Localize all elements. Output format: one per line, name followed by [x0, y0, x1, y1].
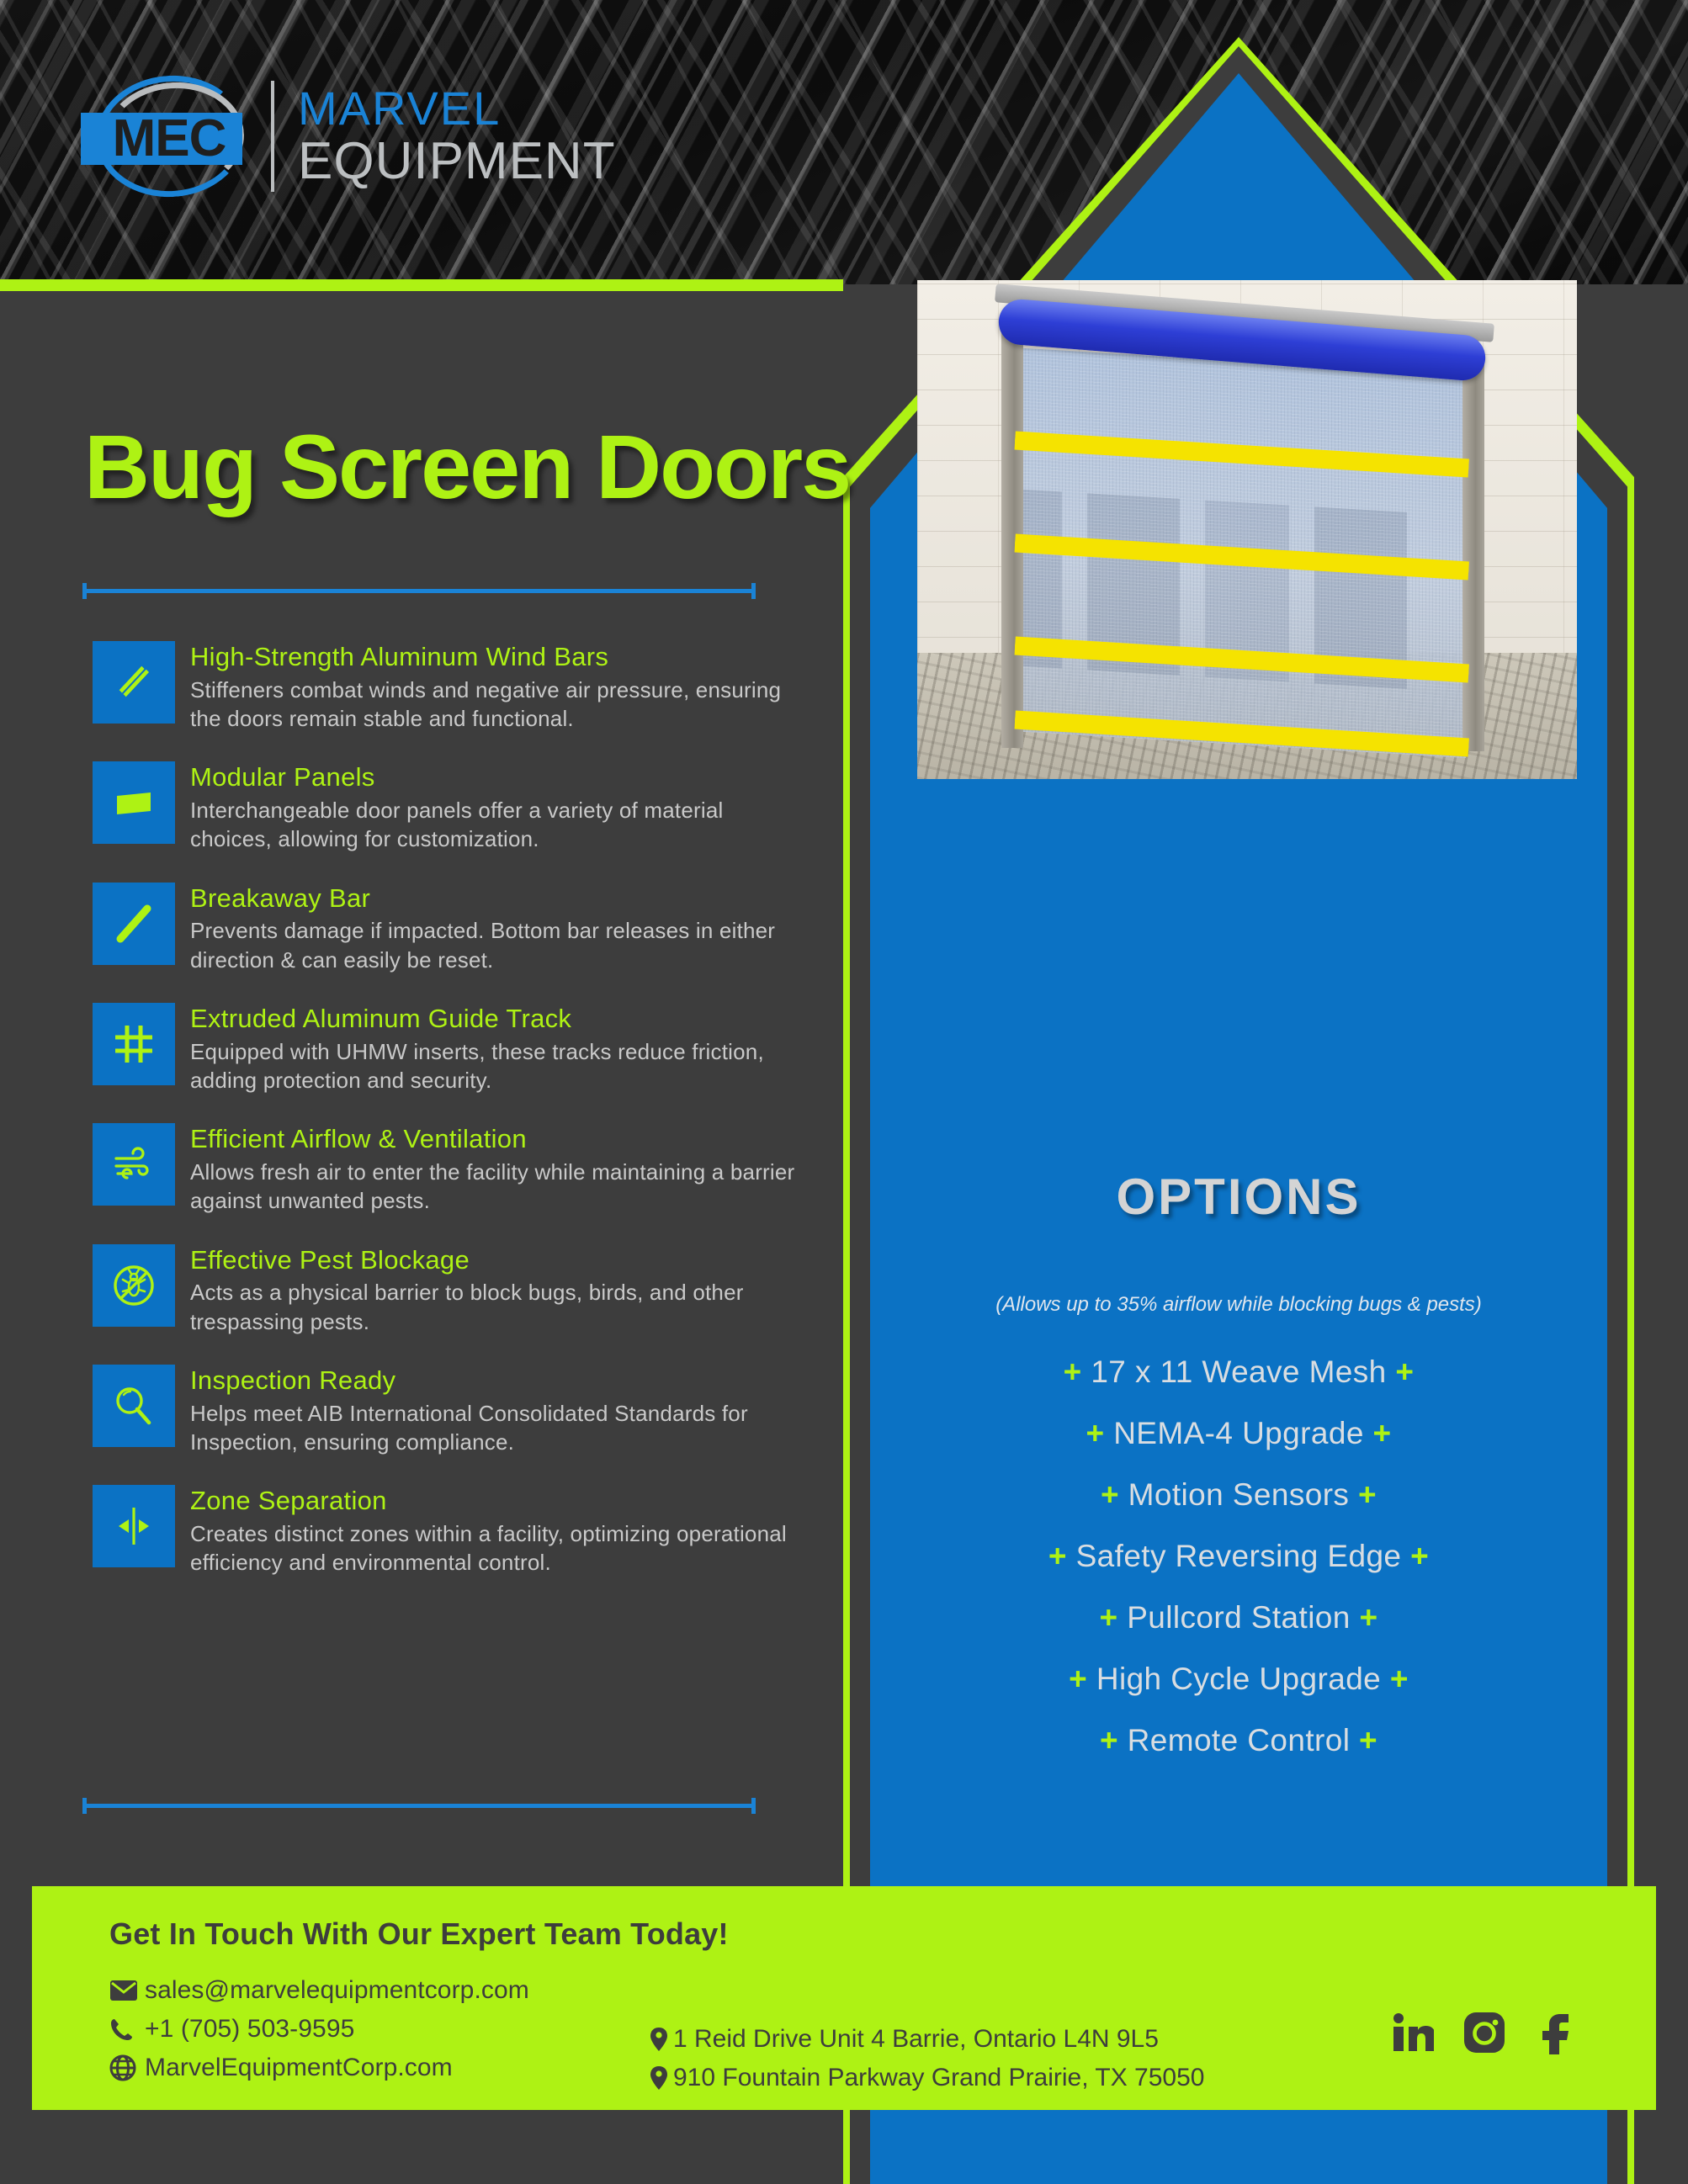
feature-body: Breakaway Bar Prevents damage if impacte… [190, 883, 808, 974]
options-note: (Allows up to 35% airflow while blocking… [843, 1293, 1634, 1317]
email-icon [109, 1980, 145, 2001]
feature-body: Zone Separation Creates distinct zones w… [190, 1485, 808, 1577]
logo-divider [271, 81, 274, 192]
divider-bottom [82, 1804, 756, 1808]
feature-desc: Stiffeners combat winds and negative air… [190, 676, 808, 734]
instagram-icon[interactable] [1462, 2011, 1506, 2054]
option-label: 17 x 11 Weave Mesh [1091, 1354, 1386, 1389]
website-text: MarvelEquipmentCorp.com [145, 2054, 453, 2082]
feature-desc: Helps meet AIB International Consolidate… [190, 1399, 808, 1457]
option-item: + High Cycle Upgrade + [843, 1663, 1634, 1694]
feature-body: High-Strength Aluminum Wind Bars Stiffen… [190, 641, 808, 733]
guide-track-right [1462, 356, 1484, 751]
plus-icon: + [1069, 1662, 1087, 1696]
feature-title: Inspection Ready [190, 1366, 808, 1396]
contact-website-row[interactable]: MarvelEquipmentCorp.com [109, 2054, 529, 2082]
feature-item: Breakaway Bar Prevents damage if impacte… [93, 883, 808, 974]
banner-green-rule [0, 279, 843, 291]
feature-body: Inspection Ready Helps meet AIB Internat… [190, 1365, 808, 1456]
airflow-wind-icon [93, 1123, 175, 1206]
no-bug-icon [93, 1244, 175, 1327]
option-item: + 17 x 11 Weave Mesh + [843, 1356, 1634, 1387]
right-pentagon-panel: OPTIONS (Allows up to 35% airflow while … [843, 0, 1688, 2184]
facebook-icon[interactable] [1535, 2011, 1574, 2054]
options-list: + 17 x 11 Weave Mesh + + NEMA-4 Upgrade … [843, 1356, 1634, 1786]
feature-item: Efficient Airflow & Ventilation Allows f… [93, 1123, 808, 1215]
plus-icon: + [1086, 1416, 1104, 1450]
feature-desc: Acts as a physical barrier to block bugs… [190, 1278, 808, 1336]
guide-track-grid-icon [93, 1003, 175, 1085]
feature-body: Effective Pest Blockage Acts as a physic… [190, 1244, 808, 1336]
feature-desc: Interchangeable door panels offer a vari… [190, 796, 808, 854]
wind-bar-icon [93, 641, 175, 724]
logo-marvel-text: MARVEL [298, 85, 616, 132]
feature-title: Modular Panels [190, 763, 808, 792]
plus-icon: + [1359, 1723, 1377, 1757]
logo-mec-text: MEC [89, 109, 249, 168]
globe-icon [109, 2054, 145, 2081]
option-item: + NEMA-4 Upgrade + [843, 1418, 1634, 1449]
plus-icon: + [1410, 1539, 1429, 1573]
divider-top [82, 589, 756, 593]
option-item: + Safety Reversing Edge + [843, 1540, 1634, 1572]
plus-icon: + [1358, 1477, 1377, 1512]
option-item: + Motion Sensors + [843, 1479, 1634, 1510]
feature-item: Effective Pest Blockage Acts as a physic… [93, 1244, 808, 1336]
plus-icon: + [1372, 1416, 1391, 1450]
option-label: Remote Control [1128, 1723, 1351, 1757]
feature-item: Inspection Ready Helps meet AIB Internat… [93, 1365, 808, 1456]
feature-item: Modular Panels Interchangeable door pane… [93, 761, 808, 853]
plus-icon: + [1100, 1723, 1118, 1757]
option-item: + Pullcord Station + [843, 1602, 1634, 1633]
social-links [1390, 2011, 1574, 2054]
linkedin-icon[interactable] [1390, 2011, 1434, 2054]
feature-body: Extruded Aluminum Guide Track Equipped w… [190, 1003, 808, 1095]
feature-title: Effective Pest Blockage [190, 1246, 808, 1275]
feature-title: High-Strength Aluminum Wind Bars [190, 643, 808, 672]
phone-text: +1 (705) 503-9595 [145, 2015, 354, 2044]
email-text: sales@marvelequipmentcorp.com [145, 1976, 529, 2005]
feature-title: Extruded Aluminum Guide Track [190, 1005, 808, 1034]
company-logo: MEC MARVEL EQUIPMENT [81, 74, 616, 199]
option-label: Safety Reversing Edge [1076, 1539, 1402, 1573]
feature-desc: Allows fresh air to enter the facility w… [190, 1158, 808, 1216]
feature-desc: Equipped with UHMW inserts, these tracks… [190, 1037, 808, 1095]
location-pin-icon [645, 2065, 673, 2091]
panel-icon [93, 761, 175, 844]
feature-title: Zone Separation [190, 1487, 808, 1516]
feature-list: High-Strength Aluminum Wind Bars Stiffen… [93, 641, 808, 1606]
option-label: NEMA-4 Upgrade [1113, 1416, 1364, 1450]
plus-icon: + [1101, 1477, 1119, 1512]
plus-icon: + [1390, 1662, 1409, 1696]
contact-phone-row[interactable]: +1 (705) 503-9595 [109, 2015, 529, 2044]
footer-heading: Get In Touch With Our Expert Team Today! [109, 1916, 729, 1952]
feature-body: Efficient Airflow & Ventilation Allows f… [190, 1123, 808, 1215]
contact-column: sales@marvelequipmentcorp.com +1 (705) 5… [109, 1976, 529, 2092]
feature-item: High-Strength Aluminum Wind Bars Stiffen… [93, 641, 808, 733]
logo-wordmark: MARVEL EQUIPMENT [298, 85, 616, 188]
contact-footer: Get In Touch With Our Expert Team Today!… [32, 1886, 1656, 2110]
plus-icon: + [1064, 1354, 1082, 1389]
logo-mark: MEC [81, 74, 259, 199]
feature-desc: Prevents damage if impacted. Bottom bar … [190, 916, 808, 974]
zone-separation-icon [93, 1485, 175, 1567]
breakaway-bar-icon [93, 883, 175, 965]
plus-icon: + [1100, 1600, 1118, 1635]
address-text: 1 Reid Drive Unit 4 Barrie, Ontario L4N … [673, 2025, 1159, 2054]
address-text: 910 Fountain Parkway Grand Prairie, TX 7… [673, 2064, 1204, 2092]
option-label: High Cycle Upgrade [1096, 1662, 1381, 1696]
options-heading: OPTIONS [843, 1168, 1634, 1226]
feature-item: Extruded Aluminum Guide Track Equipped w… [93, 1003, 808, 1095]
magnifier-icon [93, 1365, 175, 1447]
address-column: 1 Reid Drive Unit 4 Barrie, Ontario L4N … [645, 2025, 1204, 2102]
address-row[interactable]: 910 Fountain Parkway Grand Prairie, TX 7… [645, 2064, 1204, 2092]
location-pin-icon [645, 2027, 673, 2052]
contact-email-row[interactable]: sales@marvelequipmentcorp.com [109, 1976, 529, 2005]
address-row[interactable]: 1 Reid Drive Unit 4 Barrie, Ontario L4N … [645, 2025, 1204, 2054]
plus-icon: + [1048, 1539, 1067, 1573]
logo-equipment-text: EQUIPMENT [298, 135, 616, 188]
plus-icon: + [1395, 1354, 1414, 1389]
option-item: + Remote Control + [843, 1725, 1634, 1756]
plus-icon: + [1359, 1600, 1377, 1635]
option-label: Motion Sensors [1128, 1477, 1350, 1512]
feature-title: Breakaway Bar [190, 884, 808, 914]
feature-item: Zone Separation Creates distinct zones w… [93, 1485, 808, 1577]
option-label: Pullcord Station [1127, 1600, 1351, 1635]
feature-title: Efficient Airflow & Ventilation [190, 1125, 808, 1154]
page-title: Bug Screen Doors [84, 414, 850, 519]
flyer-page: MEC MARVEL EQUIPMENT Bug Screen Doors Hi… [0, 0, 1688, 2184]
feature-body: Modular Panels Interchangeable door pane… [190, 761, 808, 853]
feature-desc: Creates distinct zones within a facility… [190, 1519, 808, 1577]
phone-icon [109, 2017, 145, 2042]
product-image [917, 280, 1577, 779]
